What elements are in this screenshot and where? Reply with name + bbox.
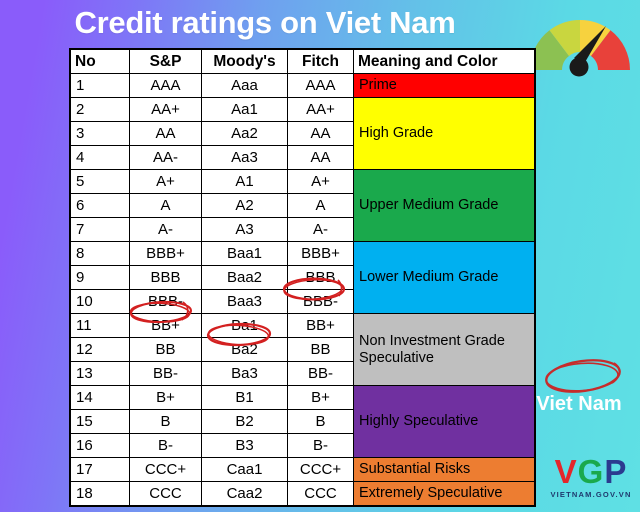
rating-sp: B+ bbox=[130, 386, 202, 410]
rating-fitch: BBB+ bbox=[288, 242, 354, 266]
rating-moodys: Baa3 bbox=[202, 290, 288, 314]
rating-fitch: AA+ bbox=[288, 98, 354, 122]
col-header-sp: S&P bbox=[130, 50, 202, 74]
table-row: 2AA+Aa1AA+High Grade bbox=[71, 98, 535, 122]
rating-moodys: Caa2 bbox=[202, 482, 288, 506]
rating-sp: BBB+ bbox=[130, 242, 202, 266]
table-row: 17CCC+Caa1CCC+Substantial Risks bbox=[71, 458, 535, 482]
rating-fitch: AA bbox=[288, 122, 354, 146]
rating-moodys: Aa1 bbox=[202, 98, 288, 122]
col-header-meaning: Meaning and Color bbox=[354, 50, 535, 74]
rating-no: 3 bbox=[71, 122, 130, 146]
rating-moodys: Aa3 bbox=[202, 146, 288, 170]
rating-sp: AA bbox=[130, 122, 202, 146]
meaning-cell: Lower Medium Grade bbox=[354, 242, 535, 314]
rating-fitch: BB- bbox=[288, 362, 354, 386]
meaning-cell: Highly Speculative bbox=[354, 386, 535, 458]
rating-fitch: B+ bbox=[288, 386, 354, 410]
rating-moodys: A2 bbox=[202, 194, 288, 218]
rating-sp: BBB bbox=[130, 266, 202, 290]
rating-moodys: Baa1 bbox=[202, 242, 288, 266]
rating-sp: A bbox=[130, 194, 202, 218]
meaning-cell: Extremely Speculative bbox=[354, 482, 535, 506]
rating-fitch: AAA bbox=[288, 74, 354, 98]
table-row: 8BBB+Baa1BBB+Lower Medium Grade bbox=[71, 242, 535, 266]
rating-moodys: Baa2 bbox=[202, 266, 288, 290]
rating-no: 18 bbox=[71, 482, 130, 506]
rating-fitch: BB bbox=[288, 338, 354, 362]
vgp-logo-letters: VGP bbox=[545, 455, 637, 489]
rating-no: 17 bbox=[71, 458, 130, 482]
rating-sp: A+ bbox=[130, 170, 202, 194]
vgp-logo-subtitle: VIETNAM.GOV.VN bbox=[545, 490, 637, 499]
rating-sp: CCC+ bbox=[130, 458, 202, 482]
rating-fitch: A+ bbox=[288, 170, 354, 194]
rating-fitch: BBB bbox=[288, 266, 354, 290]
rating-moodys: Caa1 bbox=[202, 458, 288, 482]
rating-moodys: Aaa bbox=[202, 74, 288, 98]
rating-moodys: Aa2 bbox=[202, 122, 288, 146]
col-header-moodys: Moody's bbox=[202, 50, 288, 74]
col-header-no: No bbox=[71, 50, 130, 74]
rating-sp: A- bbox=[130, 218, 202, 242]
rating-no: 6 bbox=[71, 194, 130, 218]
rating-sp: BB bbox=[130, 338, 202, 362]
rating-sp: AA+ bbox=[130, 98, 202, 122]
rating-fitch: AA bbox=[288, 146, 354, 170]
rating-fitch: B- bbox=[288, 434, 354, 458]
viet-nam-label: Viet Nam bbox=[519, 393, 639, 416]
rating-no: 1 bbox=[71, 74, 130, 98]
rating-no: 9 bbox=[71, 266, 130, 290]
meaning-cell: Substantial Risks bbox=[354, 458, 535, 482]
vgp-letter-g: G bbox=[578, 453, 605, 490]
rating-no: 15 bbox=[71, 410, 130, 434]
rating-no: 16 bbox=[71, 434, 130, 458]
meaning-cell: Prime bbox=[354, 74, 535, 98]
rating-moodys: B1 bbox=[202, 386, 288, 410]
rating-no: 4 bbox=[71, 146, 130, 170]
rating-moodys: Ba1 bbox=[202, 314, 288, 338]
speedometer-gauge-icon bbox=[524, 4, 636, 78]
page-title: Credit ratings on Viet Nam bbox=[0, 5, 530, 41]
rating-fitch: BBB- bbox=[288, 290, 354, 314]
rating-fitch: CCC+ bbox=[288, 458, 354, 482]
rating-fitch: CCC bbox=[288, 482, 354, 506]
meaning-cell: High Grade bbox=[354, 98, 535, 170]
rating-sp: CCC bbox=[130, 482, 202, 506]
rating-no: 7 bbox=[71, 218, 130, 242]
rating-moodys: B2 bbox=[202, 410, 288, 434]
rating-fitch: A- bbox=[288, 218, 354, 242]
col-header-fitch: Fitch bbox=[288, 50, 354, 74]
vgp-logo: VGP VIETNAM.GOV.VN bbox=[545, 455, 637, 499]
meaning-cell: Non Investment Grade Speculative bbox=[354, 314, 535, 386]
table-body: 1AAAAaaAAAPrime2AA+Aa1AA+High Grade3AAAa… bbox=[71, 74, 535, 506]
rating-sp: AA- bbox=[130, 146, 202, 170]
table-row: 14B+B1B+Highly Speculative bbox=[71, 386, 535, 410]
credit-ratings-table: No S&P Moody's Fitch Meaning and Color 1… bbox=[70, 49, 535, 506]
rating-sp: BB- bbox=[130, 362, 202, 386]
table-row: 1AAAAaaAAAPrime bbox=[71, 74, 535, 98]
table-row: 18CCCCaa2CCCExtremely Speculative bbox=[71, 482, 535, 506]
rating-no: 10 bbox=[71, 290, 130, 314]
rating-moodys: Ba3 bbox=[202, 362, 288, 386]
table-header-row: No S&P Moody's Fitch Meaning and Color bbox=[71, 50, 535, 74]
rating-moodys: A3 bbox=[202, 218, 288, 242]
rating-moodys: B3 bbox=[202, 434, 288, 458]
rating-no: 11 bbox=[71, 314, 130, 338]
rating-fitch: BB+ bbox=[288, 314, 354, 338]
rating-sp: BBB- bbox=[130, 290, 202, 314]
rating-no: 13 bbox=[71, 362, 130, 386]
rating-sp: AAA bbox=[130, 74, 202, 98]
rating-moodys: Ba2 bbox=[202, 338, 288, 362]
rating-sp: B bbox=[130, 410, 202, 434]
rating-moodys: A1 bbox=[202, 170, 288, 194]
meaning-cell: Upper Medium Grade bbox=[354, 170, 535, 242]
rating-fitch: B bbox=[288, 410, 354, 434]
vgp-letter-v: V bbox=[555, 453, 578, 490]
table-row: 5A+A1A+Upper Medium Grade bbox=[71, 170, 535, 194]
rating-no: 8 bbox=[71, 242, 130, 266]
rating-no: 14 bbox=[71, 386, 130, 410]
rating-fitch: A bbox=[288, 194, 354, 218]
rating-no: 2 bbox=[71, 98, 130, 122]
rating-no: 5 bbox=[71, 170, 130, 194]
vgp-letter-p: P bbox=[604, 453, 627, 490]
rating-sp: BB+ bbox=[130, 314, 202, 338]
annotation-circle-viet-nam bbox=[540, 357, 626, 395]
rating-sp: B- bbox=[130, 434, 202, 458]
rating-no: 12 bbox=[71, 338, 130, 362]
table-row: 11BB+Ba1BB+Non Investment Grade Speculat… bbox=[71, 314, 535, 338]
